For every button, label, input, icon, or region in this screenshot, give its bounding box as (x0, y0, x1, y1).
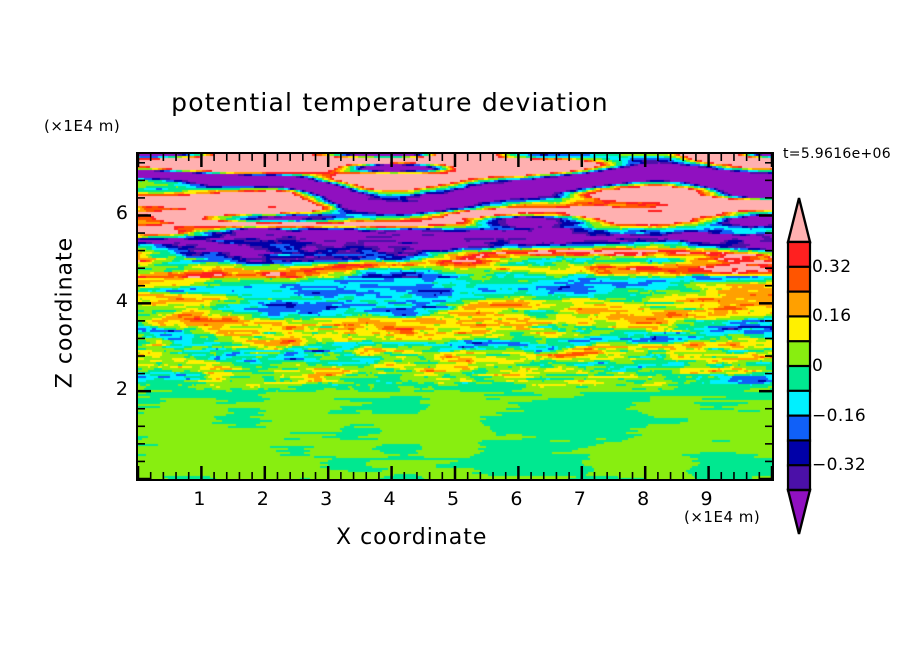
x-tick-label: 2 (257, 488, 269, 510)
colorbar-tick-label: 0.16 (812, 306, 851, 326)
temperature-deviation-field (138, 154, 772, 479)
x-tick-label: 4 (384, 488, 396, 510)
timestamp-label: t=5.9616e+06 (783, 146, 891, 162)
colorbar-tick-label: 0.32 (812, 257, 851, 277)
x-tick-label: 3 (320, 488, 332, 510)
x-tick-label: 5 (447, 488, 459, 510)
y-tick-label: 2 (106, 378, 128, 400)
x-tick-label: 8 (637, 488, 649, 510)
colorbar-tick-label: −0.16 (812, 406, 866, 426)
x-tick-label: 6 (510, 488, 522, 510)
colorbar (782, 196, 816, 536)
x-tick-label: 1 (193, 488, 205, 510)
y-tick-label: 6 (106, 202, 128, 224)
x-tick-label: 7 (574, 488, 586, 510)
contour-plot-area (136, 152, 774, 481)
y-axis-title: Z coordinate (53, 218, 78, 408)
colorbar-tick-label: −0.32 (812, 455, 866, 475)
x-axis-unit-label: (×1E4 m) (684, 508, 760, 526)
colorbar-tick-label: 0 (812, 356, 823, 376)
page-title: potential temperature deviation (0, 88, 780, 117)
z-axis-unit-label: (×1E4 m) (44, 117, 120, 135)
x-axis-title: X coordinate (336, 525, 487, 550)
y-tick-label: 4 (106, 290, 128, 312)
figure-canvas: potential temperature deviation (×1E4 m)… (0, 0, 904, 654)
x-tick-label: 9 (701, 488, 713, 510)
